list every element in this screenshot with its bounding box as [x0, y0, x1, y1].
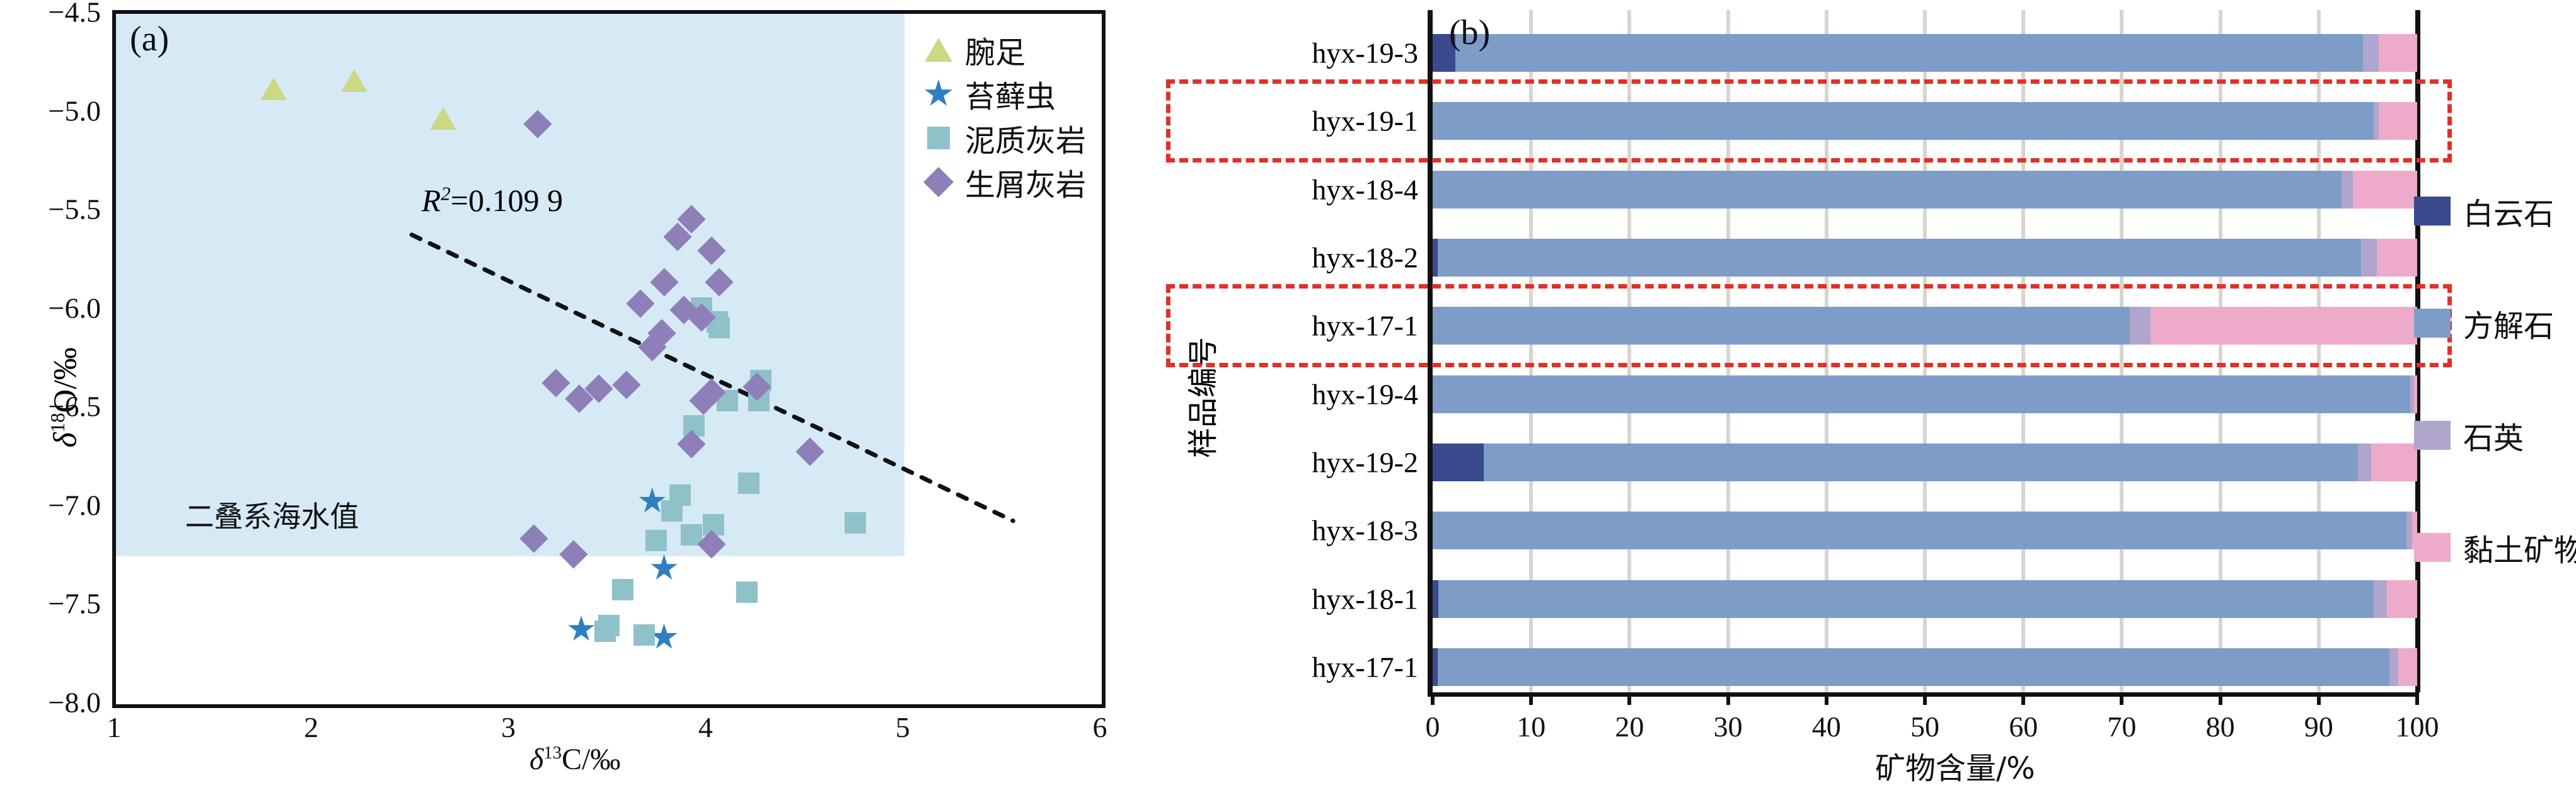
scatter-point-diamond — [519, 524, 548, 552]
scatter-point-diamond — [705, 268, 734, 296]
panel-b-x-tick: 80 — [2206, 710, 2235, 743]
panel-b-x-axis-title: 矿物含量/% — [1875, 743, 2035, 787]
bar-segment-calcite — [1433, 512, 2406, 549]
bar-segment-calcite — [1438, 648, 2389, 686]
square-icon — [920, 127, 957, 149]
legend-label: 腕足 — [965, 28, 1025, 72]
figure-root: δ18O/‰ −4.5−5.0−5.5−6.0−6.5−7.0−7.5−8.0 … — [0, 0, 2576, 795]
legend-swatch — [2414, 421, 2451, 450]
bar-segment-clay — [2371, 443, 2417, 481]
highlight-box — [1166, 284, 2452, 367]
scatter-point-diamond — [613, 370, 641, 399]
panel-b-x-tick: 40 — [1812, 710, 1841, 743]
bar-category-label: hyx-19-2 — [1166, 445, 1418, 479]
panel-b-x-tick: 10 — [1516, 710, 1545, 743]
panel-b-tag: (b) — [1449, 13, 1490, 53]
scatter-point-square — [612, 579, 633, 600]
panel-a-x-axis-title: δ13C/‰ — [529, 742, 620, 777]
panel-a-x-tick: 6 — [1093, 711, 1107, 744]
bar-segment-dolomite — [1433, 239, 1438, 277]
panel-a-y-tick: −8.0 — [6, 686, 101, 719]
panel-a-y-tick: −6.5 — [6, 390, 101, 423]
bar-segment-dolomite — [1433, 648, 1438, 686]
bar-segment-clay — [2398, 648, 2417, 686]
bar-segment-calcite — [1433, 171, 2342, 209]
panel-b-x-tick: 70 — [2107, 710, 2136, 743]
bar-row[interactable] — [1433, 34, 2417, 72]
legend-label: 生屑灰岩 — [965, 160, 1086, 204]
bar-row[interactable] — [1433, 648, 2417, 686]
legend-item-mineral[interactable]: 白云石 — [2414, 155, 2575, 267]
scatter-point-star — [650, 554, 678, 582]
bar-segment-quartz — [2358, 443, 2371, 481]
bar-segment-calcite — [1438, 580, 2374, 618]
highlight-box — [1166, 79, 2452, 163]
scatter-point-diamond — [697, 236, 725, 265]
panel-a-y-tick: −6.0 — [6, 291, 101, 324]
legend-label: 苔藓虫 — [965, 72, 1056, 116]
panel-a-plot-area: (a) R2=0.109 9 二叠系海水值 腕足苔藓虫泥质灰岩生屑灰岩 — [112, 10, 1106, 708]
legend-label: 石英 — [2463, 413, 2524, 457]
scatter-point-triangle — [260, 77, 287, 100]
scatter-point-square — [738, 472, 760, 494]
star-icon — [920, 79, 957, 108]
legend-item-mineral[interactable]: 黏土矿物 — [2414, 491, 2575, 603]
bar-segment-quartz — [2389, 648, 2398, 686]
panel-a-y-tick: −7.5 — [6, 587, 101, 621]
bar-segment-quartz — [2342, 171, 2354, 209]
panel-a-scatter: δ18O/‰ −4.5−5.0−5.5−6.0−6.5−7.0−7.5−8.0 … — [0, 0, 1128, 795]
scatter-point-diamond — [650, 268, 678, 296]
bar-category-label: hyx-18-3 — [1166, 514, 1418, 547]
scatter-point-triangle — [341, 69, 367, 92]
bar-category-label: hyx-18-4 — [1166, 173, 1418, 206]
panel-b-legend: 白云石方解石石英黏土矿物 — [2414, 155, 2575, 603]
legend-label: 泥质灰岩 — [965, 116, 1086, 160]
bar-segment-dolomite — [1433, 580, 1438, 618]
panel-b-x-tick: 50 — [1910, 710, 1939, 743]
bar-segment-calcite — [1484, 443, 2358, 481]
bar-segment-calcite — [1433, 375, 2410, 413]
panel-a-x-tick: 3 — [501, 711, 516, 744]
bar-segment-clay — [2379, 34, 2417, 72]
bar-segment-quartz — [2363, 34, 2379, 72]
scatter-point-square — [645, 530, 667, 551]
bar-category-label: hyx-19-3 — [1166, 37, 1418, 70]
bar-row[interactable] — [1433, 375, 2417, 413]
legend-swatch — [2414, 197, 2451, 226]
panel-a-y-tick: −5.0 — [6, 94, 101, 127]
scatter-point-square — [736, 581, 758, 603]
panel-a-x-tick: 5 — [896, 711, 910, 744]
triangle-icon — [920, 38, 957, 62]
panel-a-y-tick: −5.5 — [6, 193, 101, 226]
panel-b-x-tick: 30 — [1714, 710, 1743, 743]
scatter-point-diamond — [626, 290, 654, 318]
bar-row[interactable] — [1433, 239, 2417, 277]
legend-swatch — [2414, 309, 2451, 338]
bar-segment-clay — [2353, 171, 2417, 209]
panel-b-x-tick: 90 — [2304, 710, 2333, 743]
panel-b-x-tick: 20 — [1615, 710, 1644, 743]
scatter-point-diamond — [541, 369, 570, 397]
scatter-point-diamond — [559, 540, 587, 568]
bar-segment-quartz — [2374, 580, 2386, 618]
bar-row[interactable] — [1433, 443, 2417, 481]
legend-swatch — [2414, 533, 2451, 562]
panel-a-y-tick: −4.5 — [6, 0, 101, 29]
scatter-point-square — [633, 624, 655, 646]
panel-b-stacked-bar: 样品编号 hyx-19-3hyx-19-1hyx-18-4hyx-18-2hyx… — [1128, 0, 2576, 795]
legend-label: 方解石 — [2463, 301, 2554, 345]
bar-row[interactable] — [1433, 512, 2417, 549]
scatter-point-star — [567, 615, 595, 643]
legend-label: 黏土矿物 — [2463, 525, 2576, 569]
legend-item-mineral[interactable]: 石英 — [2414, 379, 2575, 491]
bar-segment-quartz — [2406, 512, 2412, 549]
panel-a-x-tick: 2 — [304, 711, 318, 744]
bar-segment-calcite — [1455, 34, 2363, 72]
scatter-point-diamond — [795, 438, 824, 466]
diamond-icon — [920, 171, 957, 193]
panel-a-x-tick: 4 — [698, 711, 713, 744]
scatter-point-triangle — [430, 107, 456, 130]
bar-segment-clay — [2377, 239, 2417, 277]
panel-b-x-tick: 100 — [2396, 710, 2439, 743]
scatter-point-diamond — [524, 110, 552, 139]
bar-row[interactable] — [1433, 171, 2417, 209]
panel-a-y-tick: −7.0 — [6, 488, 101, 522]
bar-row[interactable] — [1433, 580, 2417, 618]
bar-category-label: hyx-18-1 — [1166, 582, 1418, 615]
scatter-point-square — [594, 621, 616, 642]
scatter-point-square — [661, 500, 683, 522]
legend-item-mineral[interactable]: 方解石 — [2414, 267, 2575, 379]
bar-segment-clay — [2387, 580, 2417, 618]
bar-category-label: hyx-17-1 — [1166, 650, 1418, 683]
panel-b-x-tick: 60 — [2009, 710, 2038, 743]
scatter-point-square — [845, 512, 866, 534]
bar-category-label: hyx-19-4 — [1166, 377, 1418, 411]
bar-category-label: hyx-18-2 — [1166, 241, 1418, 275]
bar-segment-quartz — [2361, 239, 2377, 277]
legend-label: 白云石 — [2463, 189, 2554, 233]
bar-segment-dolomite — [1433, 443, 1484, 481]
panel-b-x-tick: 0 — [1426, 710, 1440, 743]
bar-segment-calcite — [1438, 239, 2361, 277]
panel-a-x-tick: 1 — [107, 711, 122, 744]
